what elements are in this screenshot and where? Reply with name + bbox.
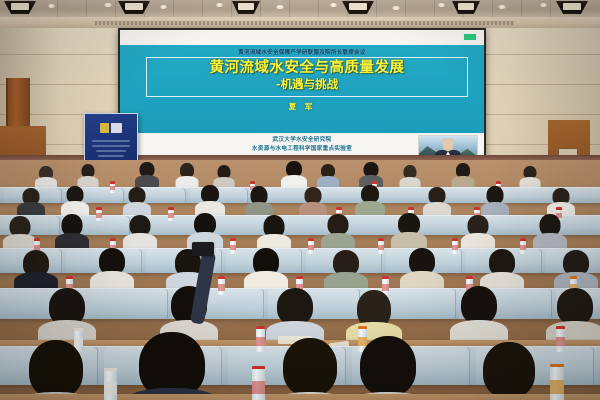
audience-member xyxy=(196,185,224,216)
audience-member xyxy=(392,213,426,250)
audience-member-foreground xyxy=(124,332,220,400)
ceiling-grid xyxy=(0,0,600,17)
audience-member xyxy=(92,248,132,292)
audience-member xyxy=(40,288,94,344)
ceiling-downlight xyxy=(438,3,445,7)
ceiling-downlight xyxy=(160,5,167,9)
audience-member xyxy=(322,214,354,250)
audience-member xyxy=(318,164,338,188)
audience-member xyxy=(258,215,290,250)
audience-member xyxy=(356,185,384,216)
ceiling-downlight xyxy=(330,3,337,7)
ceiling-downlight xyxy=(104,3,112,7)
slide-subtitle: -机遇与挑战 xyxy=(147,79,467,91)
audience-member-foreground xyxy=(16,340,96,400)
water-bottle xyxy=(556,326,565,352)
audience-member xyxy=(300,187,326,216)
water-bottle xyxy=(230,238,236,254)
audience-member xyxy=(534,214,566,250)
audience-member xyxy=(18,188,44,216)
audience-member xyxy=(56,214,88,250)
audience-member xyxy=(246,248,286,292)
audience-member xyxy=(124,187,150,216)
audience-member xyxy=(176,163,198,188)
audience-member xyxy=(16,250,56,292)
audience-member xyxy=(282,161,306,188)
water-bottle xyxy=(452,238,458,254)
projector-status-indicator-icon xyxy=(463,33,477,41)
water-bottle xyxy=(168,207,174,221)
projection-screen-frame: 黄河流域水安全保障产学研联盟及院所长联席会议 黄河流域水安全与高质量发展 -机遇… xyxy=(118,28,486,160)
water-bottle xyxy=(110,181,115,193)
audience-member xyxy=(78,164,98,188)
ceiling-downlight xyxy=(498,5,506,9)
audience-member xyxy=(520,166,540,188)
ceiling-vent xyxy=(95,21,515,25)
slide-title-box: 黄河流域水安全与高质量发展 -机遇与挑战 xyxy=(146,57,468,97)
water-bottle xyxy=(550,364,564,400)
water-bottle xyxy=(104,368,117,400)
audience-member xyxy=(482,186,508,216)
water-bottle xyxy=(308,238,314,254)
audience-member-foreground xyxy=(346,336,430,400)
projection-screen: 黄河流域水安全保障产学研联盟及院所长联席会议 黄河流域水安全与高质量发展 -机遇… xyxy=(120,30,484,158)
slide-top-margin xyxy=(120,30,484,45)
audience-member xyxy=(424,187,450,216)
ceiling-downlight xyxy=(216,3,223,7)
audience-member xyxy=(452,286,506,344)
slide-kicker-text: 黄河流域水安全保障产学研联盟及院所长联席会议 xyxy=(120,48,484,56)
seat-row[interactable] xyxy=(0,215,600,235)
water-bottle xyxy=(252,366,265,400)
water-bottle xyxy=(218,276,225,295)
audience-member xyxy=(462,215,494,250)
audience-member xyxy=(62,186,88,216)
audience-member xyxy=(402,248,442,292)
audience-area xyxy=(0,160,600,400)
audience-member xyxy=(452,163,474,188)
audience-member-foreground xyxy=(270,338,350,400)
water-bottle xyxy=(256,326,265,352)
audience-member xyxy=(136,162,158,188)
standee-logo-icon xyxy=(100,123,122,133)
smartphone[interactable] xyxy=(192,242,214,256)
ceiling-downlight xyxy=(276,5,284,9)
audience-member xyxy=(400,165,420,188)
ceiling-downlight xyxy=(540,3,547,7)
water-bottle xyxy=(378,238,384,254)
slide-title: 黄河流域水安全与高质量发展 xyxy=(147,61,467,76)
conference-hall-photo: 黄河流域水安全保障产学研联盟及院所长联席会议 黄河流域水安全与高质量发展 -机遇… xyxy=(0,0,600,400)
ceiling-downlight xyxy=(392,6,400,10)
audience-member xyxy=(246,186,272,216)
water-bottle xyxy=(96,207,102,221)
audience-member-foreground xyxy=(470,342,548,400)
audience-member xyxy=(36,166,56,188)
audience-member xyxy=(4,216,36,250)
audience-member xyxy=(124,215,156,250)
audience-member xyxy=(326,250,366,292)
slide-content-area: 黄河流域水安全保障产学研联盟及院所长联席会议 黄河流域水安全与高质量发展 -机遇… xyxy=(120,45,484,133)
slide-speaker-name: 夏 军 xyxy=(120,101,484,112)
audience-desk xyxy=(0,394,600,400)
ceiling-downlight xyxy=(48,4,55,8)
